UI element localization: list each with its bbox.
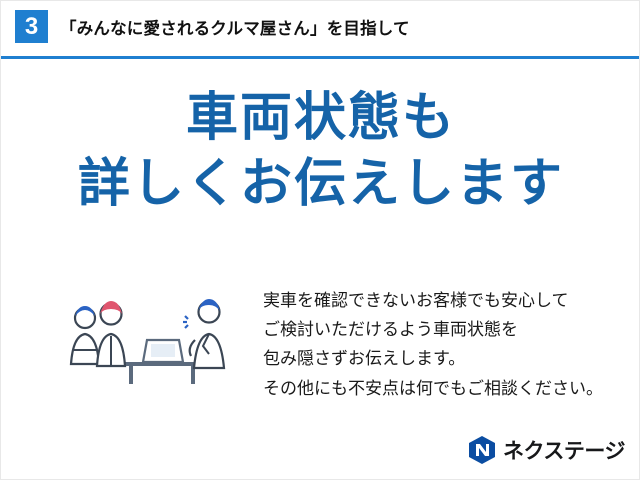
- illustration-svg: [59, 278, 249, 388]
- body-line-1: 実車を確認できないお客様でも安心して: [263, 286, 615, 315]
- brand-logo: ネクステージ: [467, 435, 625, 465]
- body-line-2: ご検討いただけるよう車両状態を: [263, 315, 615, 344]
- brand-name: ネクステージ: [503, 435, 625, 465]
- body-line-3: 包み隠さずお伝えします。: [263, 344, 615, 373]
- header-inner: 3 「みんなに愛されるクルマ屋さん」を目指して: [15, 10, 410, 43]
- body-copy: 実車を確認できないお客様でも安心して ご検討いただけるよう車両状態を 包み隠さず…: [263, 286, 615, 403]
- staff-customer-illustration: [59, 278, 249, 388]
- body-line-4: その他にも不安点は何でもご相談ください。: [263, 374, 615, 403]
- step-number-badge: 3: [15, 10, 48, 43]
- headline-line-2: 詳しくお伝えします: [1, 155, 640, 213]
- promo-banner: 3 「みんなに愛されるクルマ屋さん」を目指して 車両状態も 詳しくお伝えします: [0, 0, 640, 480]
- headline-line-1: 車両状態も: [1, 89, 640, 147]
- nexstage-n-icon: [467, 435, 497, 465]
- banner-header: 3 「みんなに愛されるクルマ屋さん」を目指して: [1, 1, 640, 59]
- header-title: 「みんなに愛されるクルマ屋さん」を目指して: [60, 15, 410, 39]
- headline: 車両状態も 詳しくお伝えします: [1, 89, 640, 213]
